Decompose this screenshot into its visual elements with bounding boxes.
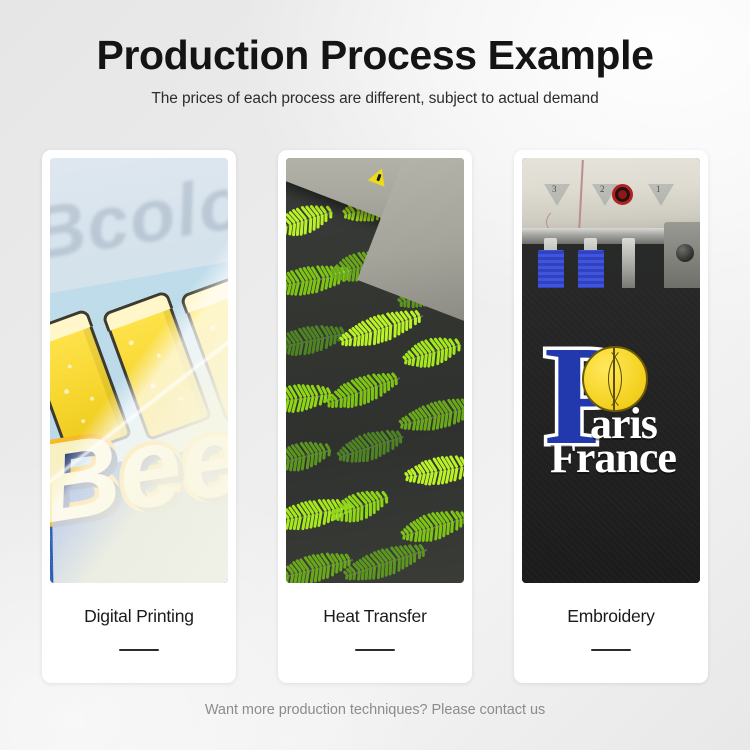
printed-wordmark-text: Bee [50, 398, 228, 541]
page-title: Production Process Example [0, 0, 750, 77]
palm-leaf [398, 392, 464, 438]
needle-marker-label: 2 [600, 184, 605, 194]
embroidered-patch: P aris France [538, 324, 698, 509]
red-indicator-ring-icon [612, 184, 633, 205]
card-label: Heat Transfer [323, 606, 426, 627]
header: Production Process Example The prices of… [0, 0, 750, 108]
palm-leaf [342, 538, 431, 583]
palm-leaf [336, 424, 408, 469]
palm-leaf [286, 200, 337, 243]
card-label: Embroidery [567, 606, 654, 627]
palm-leaf [329, 485, 392, 529]
palm-leaf [404, 452, 464, 491]
digital-printing-photo: Bcolo [50, 158, 228, 583]
needle-marker-1: 1 [648, 184, 674, 206]
palm-leaf [286, 320, 350, 361]
needle-marker-label: 3 [552, 184, 557, 194]
card-divider-rule [591, 649, 631, 651]
card-label: Digital Printing [84, 606, 194, 627]
palm-leaf [286, 437, 334, 476]
needle-marker-label: 1 [656, 184, 661, 194]
card-divider-rule [119, 649, 159, 651]
palm-leaf [324, 366, 404, 416]
process-card-digital-printing[interactable]: Bcolo [42, 150, 236, 683]
machine-knob [676, 244, 694, 262]
process-card-embroidery[interactable]: 3 2 1 [514, 150, 708, 683]
embroidery-photo: 3 2 1 [522, 158, 700, 583]
patch-text-line-2: France [550, 432, 676, 483]
page-root: Production Process Example The prices of… [0, 0, 750, 750]
process-card-list: Bcolo [42, 150, 708, 683]
footer-contact-text[interactable]: Want more production techniques? Please … [0, 702, 750, 718]
needle-holder [622, 238, 635, 290]
process-card-heat-transfer[interactable]: Heat Transfer [278, 150, 472, 683]
palm-leaf [402, 333, 464, 374]
page-subtitle: The prices of each process are different… [0, 77, 750, 108]
card-divider-rule [355, 649, 395, 651]
heat-transfer-photo [286, 158, 464, 583]
needle-marker-3: 3 [544, 184, 570, 206]
